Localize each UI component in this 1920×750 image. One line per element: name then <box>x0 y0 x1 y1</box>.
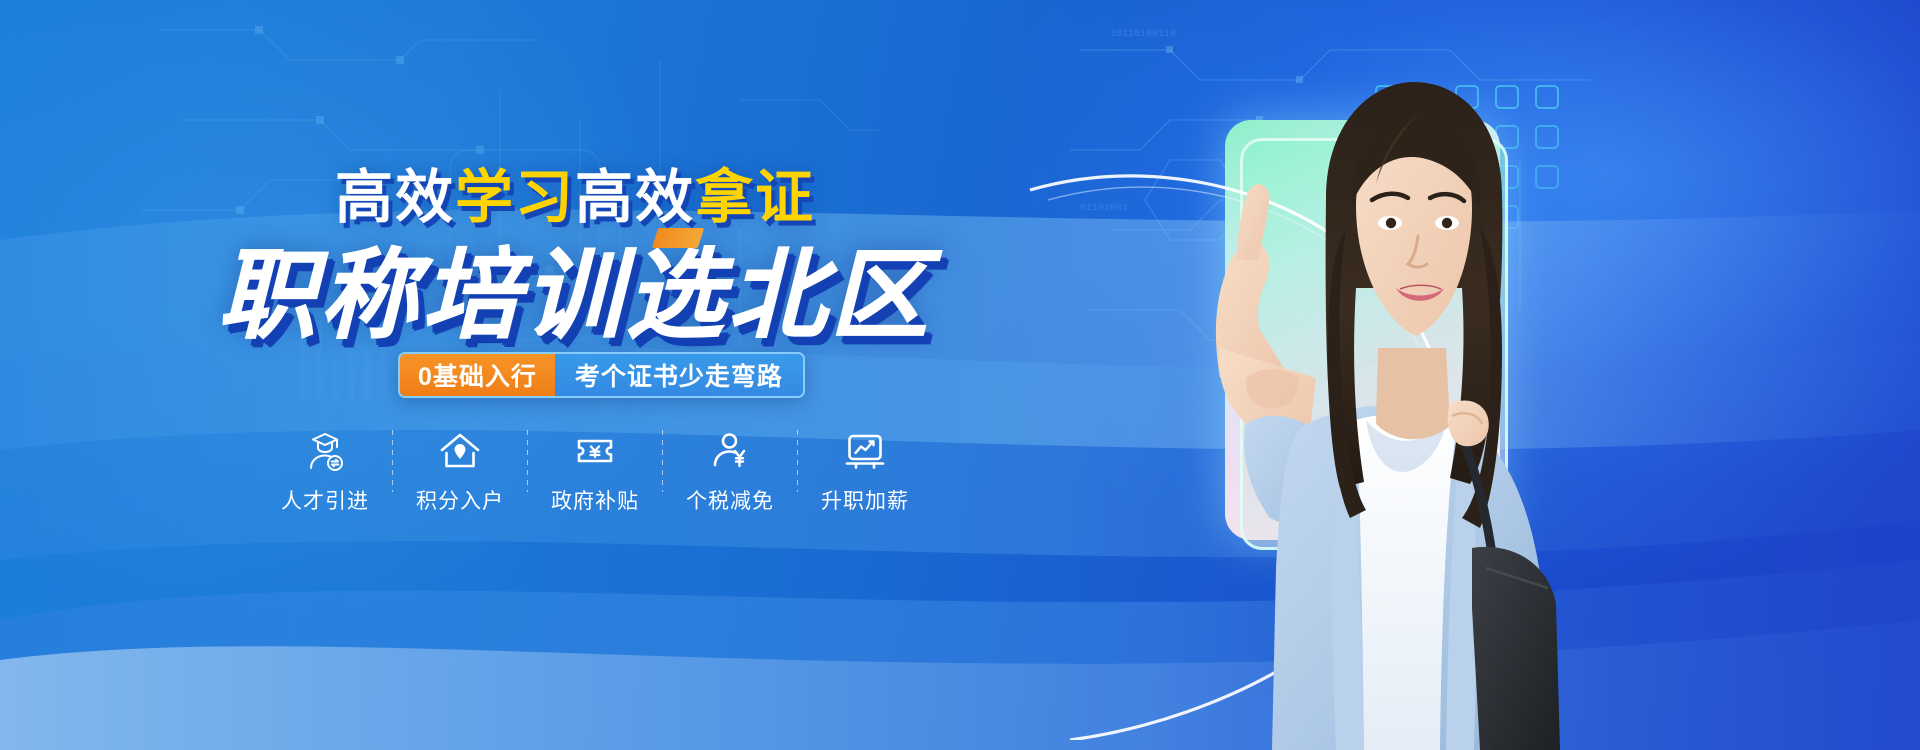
feature-divider <box>527 430 528 492</box>
feature-label: 人才引进 <box>281 485 369 515</box>
feature-item-promotion-raise[interactable]: 升职加薪 <box>798 428 932 515</box>
feature-item-government-subsidy[interactable]: 政府补贴 <box>528 428 662 515</box>
feature-item-talent-introduction[interactable]: 人才引进 <box>258 428 392 515</box>
feature-label: 升职加薪 <box>821 485 909 515</box>
feature-divider <box>392 430 393 492</box>
growth-chart-board-icon <box>842 428 888 474</box>
orange-accent-mark <box>652 228 704 248</box>
banner-content: 高效学习高效拿证 职称培训选北区 0基础入行 考个证书少走弯路 <box>0 0 1150 750</box>
promo-banner: 2 3 9 1 0 1 1 <box>0 0 1920 750</box>
person-yuan-icon <box>707 428 753 474</box>
feature-label: 积分入户 <box>416 485 504 515</box>
badge-right-label: 考个证书少走弯路 <box>555 354 803 396</box>
feature-divider <box>662 430 663 492</box>
main-title-wrap: 职称培训选北区 <box>0 216 1150 358</box>
feature-label: 个税减免 <box>686 485 774 515</box>
badge-left-label: 0基础入行 <box>400 354 555 396</box>
feature-label: 政府补贴 <box>551 485 639 515</box>
feature-item-points-residency[interactable]: 积分入户 <box>393 428 527 515</box>
smiling-woman-pointing-up-photo <box>1150 48 1580 750</box>
feature-item-tax-reduction[interactable]: 个税减免 <box>663 428 797 515</box>
ticket-yuan-icon <box>572 428 618 474</box>
main-title: 职称培训选北区 <box>218 216 932 358</box>
feature-divider <box>797 430 798 492</box>
graduate-person-icon <box>302 428 348 474</box>
tagline-badge: 0基础入行 考个证书少走弯路 <box>398 352 805 398</box>
feature-list: 人才引进 积分入户 <box>258 428 932 515</box>
house-location-pin-icon <box>437 428 483 474</box>
